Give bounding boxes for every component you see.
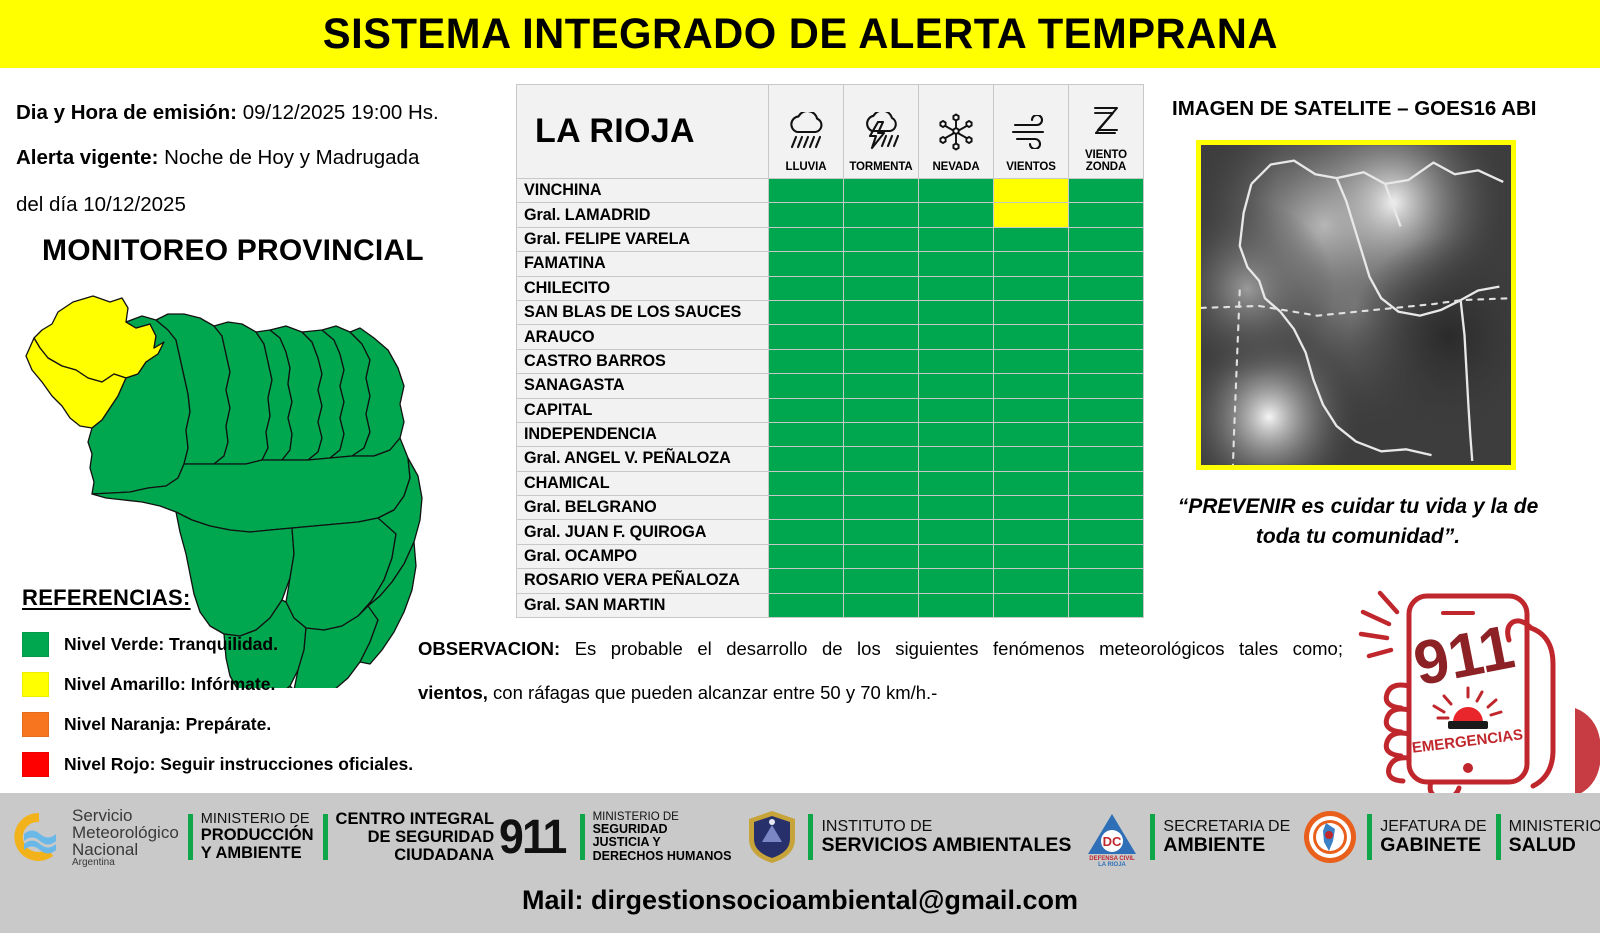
department-name-cell: Gral. BELGRANO: [517, 496, 769, 520]
divider-bar: [323, 814, 328, 860]
alert-cell-tormenta: [844, 593, 919, 617]
table-header: LA RIOJA: [517, 85, 1144, 179]
legend-label-orange: Nivel Naranja: Prepárate.: [64, 714, 271, 735]
column-label-lluvia: LLUVIA: [786, 162, 827, 174]
alert-cell-vientos: [994, 569, 1069, 593]
alert-cell-vientos: [994, 422, 1069, 446]
logo-strip: Servicio Meteorológico Nacional Argentin…: [0, 793, 1600, 881]
alert-cell-viento-zonda: [1069, 422, 1144, 446]
alert-cell-tormenta: [844, 227, 919, 251]
references-title: REFERENCIAS:: [22, 585, 442, 611]
table-row: Gral. OCAMPO: [517, 544, 1144, 568]
legend-swatch-yellow: [22, 672, 49, 697]
table-row: VINCHINA: [517, 179, 1144, 203]
smn-logo-text: Servicio Meteorológico Nacional Argentin…: [72, 807, 179, 868]
column-header-viento-zonda: VIENTOZONDA: [1069, 85, 1144, 179]
legend-label-red: Nivel Rojo: Seguir instrucciones oficial…: [64, 754, 413, 775]
alert-cell-viento-zonda: [1069, 374, 1144, 398]
legend-swatch-green: [22, 632, 49, 657]
department-name-cell: Gral. JUAN F. QUIROGA: [517, 520, 769, 544]
alert-cell-nevada: [919, 398, 994, 422]
department-name-cell: ARAUCO: [517, 325, 769, 349]
logo-ministerio-salud: MINISTERIO DE SALUD: [1487, 802, 1600, 872]
produccion-line-3: Y AMBIENTE: [201, 845, 314, 863]
alert-cell-vientos: [994, 520, 1069, 544]
alert-cell-lluvia: [769, 374, 844, 398]
logo-ministerio-seguridad: MINISTERIO DE SEGURIDAD JUSTICIA Y DEREC…: [571, 802, 732, 872]
table-row: FAMATINA: [517, 252, 1144, 276]
column-header-lluvia: LLUVIA: [769, 85, 844, 179]
table-row: Gral. FELIPE VARELA: [517, 227, 1144, 251]
divider-bar: [1496, 814, 1501, 860]
centro911-line-2: DE SEGURIDAD: [336, 828, 495, 846]
logo-secretaria-ambiente: DC DEFENSA CIVIL LA RIOJA SECRETARIA DE …: [1071, 802, 1290, 872]
legend-item: Nivel Naranja: Prepárate.: [22, 704, 442, 744]
alert-cell-tormenta: [844, 325, 919, 349]
alert-cell-tormenta: [844, 252, 919, 276]
header-banner: SISTEMA INTEGRADO DE ALERTA TEMPRANA: [0, 0, 1600, 68]
centro911-number: 911: [499, 810, 565, 865]
alert-cell-viento-zonda: [1069, 398, 1144, 422]
gabinete-line-1: JEFATURA DE: [1380, 818, 1486, 835]
page-title: SISTEMA INTEGRADO DE ALERTA TEMPRANA: [322, 10, 1277, 59]
zonda-wind-icon: [1087, 92, 1125, 148]
column-label-viento-zonda: VIENTOZONDA: [1085, 150, 1127, 174]
alert-cell-tormenta: [844, 569, 919, 593]
alert-cell-nevada: [919, 300, 994, 324]
smn-line-3: Nacional: [72, 841, 179, 858]
alert-cell-viento-zonda: [1069, 593, 1144, 617]
legend-swatch-red: [22, 752, 49, 777]
alert-cell-vientos: [994, 374, 1069, 398]
alert-cell-vientos: [994, 227, 1069, 251]
alert-cell-vientos: [994, 325, 1069, 349]
department-name-cell: Gral. OCAMPO: [517, 544, 769, 568]
alert-cell-vientos: [994, 252, 1069, 276]
alert-cell-tormenta: [844, 447, 919, 471]
smn-logo-icon: [10, 808, 68, 866]
legend-item: Nivel Rojo: Seguir instrucciones oficial…: [22, 744, 442, 784]
logo-jefatura-gabinete: JEFATURA DE GABINETE: [1290, 802, 1486, 872]
monitoring-title: MONITOREO PROVINCIAL: [42, 234, 424, 268]
department-name-cell: SANAGASTA: [517, 374, 769, 398]
alert-cell-vientos: [994, 398, 1069, 422]
observation-label: OBSERVACION:: [418, 638, 560, 659]
alert-cell-tormenta: [844, 276, 919, 300]
table-row: ARAUCO: [517, 325, 1144, 349]
alert-cell-tormenta: [844, 471, 919, 495]
logo-smn: Servicio Meteorológico Nacional Argentin…: [10, 802, 179, 872]
column-header-tormenta: TORMENTA: [844, 85, 919, 179]
prevention-quote: “PREVENIR es cuidar tu vida y la de toda…: [1168, 492, 1548, 552]
seguridad-line-2: SEGURIDAD: [593, 823, 732, 836]
divider-bar: [188, 814, 193, 860]
alert-cell-lluvia: [769, 447, 844, 471]
department-name-cell: INDEPENDENCIA: [517, 422, 769, 446]
defensa-civil-icon: DC DEFENSA CIVIL LA RIOJA: [1083, 808, 1141, 866]
observation-block: OBSERVACION: Es probable el desarrollo d…: [418, 637, 1343, 704]
alert-cell-viento-zonda: [1069, 325, 1144, 349]
alert-cell-nevada: [919, 447, 994, 471]
police-shield-icon: [745, 808, 799, 866]
department-name-cell: Gral. ANGEL V. PEÑALOZA: [517, 447, 769, 471]
alert-cell-lluvia: [769, 544, 844, 568]
alert-cell-nevada: [919, 471, 994, 495]
emergency-911-graphic: 911 EMERGENCIAS: [1335, 568, 1600, 796]
table-body: VINCHINAGral. LAMADRIDGral. FELIPE VAREL…: [517, 179, 1144, 618]
table-row: ROSARIO VERA PEÑALOZA: [517, 569, 1144, 593]
legend-item: Nivel Amarillo: Infórmate.: [22, 664, 442, 704]
emergency-label: EMERGENCIAS: [1411, 726, 1524, 756]
alert-validity-value: Noche de Hoy y Madrugada: [158, 146, 419, 169]
observation-line-2: vientos, con ráfagas que pueden alcanzar…: [418, 682, 1343, 704]
secretaria-line-1: SECRETARIA DE: [1163, 818, 1290, 835]
alert-cell-viento-zonda: [1069, 544, 1144, 568]
alert-cell-viento-zonda: [1069, 471, 1144, 495]
table-row: CASTRO BARROS: [517, 349, 1144, 373]
department-name-cell: Gral. FELIPE VARELA: [517, 227, 769, 251]
observation-line-1: OBSERVACION: Es probable el desarrollo d…: [418, 637, 1343, 660]
salud-line-2: SALUD: [1509, 835, 1600, 856]
table-row: SANAGASTA: [517, 374, 1144, 398]
alert-cell-tormenta: [844, 520, 919, 544]
legend-swatch-orange: [22, 712, 49, 737]
alert-cell-lluvia: [769, 398, 844, 422]
province-name: LA RIOJA: [535, 112, 695, 150]
alert-cell-vientos: [994, 544, 1069, 568]
alert-cell-lluvia: [769, 569, 844, 593]
table-row: CHAMICAL: [517, 471, 1144, 495]
table-row: INDEPENDENCIA: [517, 422, 1144, 446]
divider-bar: [1150, 814, 1155, 860]
alert-cell-viento-zonda: [1069, 569, 1144, 593]
table-row: Gral. JUAN F. QUIROGA: [517, 520, 1144, 544]
gabinete-line-2: GABINETE: [1380, 835, 1486, 856]
alert-cell-tormenta: [844, 300, 919, 324]
legend-item: Nivel Verde: Tranquilidad.: [22, 624, 442, 664]
alert-cell-viento-zonda: [1069, 276, 1144, 300]
table-row: CAPITAL: [517, 398, 1144, 422]
department-name-cell: CHAMICAL: [517, 471, 769, 495]
alert-cell-vientos: [994, 447, 1069, 471]
alert-cell-vientos: [994, 300, 1069, 324]
alert-cell-nevada: [919, 227, 994, 251]
salud-line-1: MINISTERIO DE: [1509, 818, 1600, 835]
alert-cell-tormenta: [844, 422, 919, 446]
centro911-line-3: CIUDADANA: [336, 846, 495, 864]
alert-cell-nevada: [919, 252, 994, 276]
alert-cell-lluvia: [769, 203, 844, 227]
alert-cell-vientos: [994, 276, 1069, 300]
column-header-vientos: VIENTOS: [994, 85, 1069, 179]
references-legend: REFERENCIAS: Nivel Verde: Tranquilidad. …: [22, 585, 442, 784]
column-label-tormenta: TORMENTA: [849, 162, 912, 174]
alert-cell-tormenta: [844, 203, 919, 227]
alert-cell-lluvia: [769, 471, 844, 495]
table-row: Gral. BELGRANO: [517, 496, 1144, 520]
alert-cell-nevada: [919, 325, 994, 349]
instituto-line-1: INSTITUTO DE: [821, 818, 1071, 835]
alert-cell-nevada: [919, 374, 994, 398]
alert-cell-nevada: [919, 203, 994, 227]
department-name-cell: SAN BLAS DE LOS SAUCES: [517, 300, 769, 324]
province-header-cell: LA RIOJA: [517, 85, 769, 179]
alert-cell-lluvia: [769, 227, 844, 251]
divider-bar: [580, 814, 585, 860]
alert-cell-vientos: [994, 471, 1069, 495]
table-header-row: LA RIOJA: [517, 85, 1144, 179]
column-header-nevada: NEVADA: [919, 85, 994, 179]
alert-cell-nevada: [919, 179, 994, 203]
alert-cell-viento-zonda: [1069, 252, 1144, 276]
centro911-line-1: CENTRO INTEGRAL: [336, 810, 495, 828]
emission-datetime-value: 09/12/2025 19:00 Hs.: [237, 101, 439, 124]
department-name-cell: ROSARIO VERA PEÑALOZA: [517, 569, 769, 593]
table-row: Gral. LAMADRID: [517, 203, 1144, 227]
alert-validity-label: Alerta vigente:: [16, 146, 158, 169]
alert-cell-lluvia: [769, 496, 844, 520]
alert-cell-lluvia: [769, 276, 844, 300]
alert-cell-viento-zonda: [1069, 227, 1144, 251]
rain-icon: [784, 104, 828, 160]
logo-ministerio-produccion: MINISTERIO DE PRODUCCIÓN Y AMBIENTE: [179, 802, 314, 872]
alert-cell-tormenta: [844, 544, 919, 568]
column-label-nevada: NEVADA: [932, 162, 979, 174]
alert-cell-nevada: [919, 349, 994, 373]
smn-line-2: Meteorológico: [72, 824, 179, 841]
produccion-line-2: PRODUCCIÓN: [201, 827, 314, 845]
seguridad-line-4: DERECHOS HUMANOS: [593, 850, 732, 863]
alert-cell-viento-zonda: [1069, 349, 1144, 373]
observation-bold-term: vientos,: [418, 682, 488, 703]
divider-bar: [808, 814, 813, 860]
svg-text:DC: DC: [1103, 834, 1122, 849]
alert-matrix-table: LA RIOJA: [516, 84, 1144, 618]
smn-line-4: Argentina: [72, 858, 179, 868]
emergency-number: 911: [1408, 612, 1519, 699]
alert-cell-viento-zonda: [1069, 496, 1144, 520]
smn-line-1: Servicio: [72, 807, 179, 824]
observation-text: Es probable el desarrollo de los siguien…: [560, 638, 1343, 659]
alert-cell-viento-zonda: [1069, 520, 1144, 544]
satellite-image: [1196, 140, 1516, 470]
thunderstorm-icon: [858, 104, 904, 160]
department-name-cell: Gral. SAN MARTIN: [517, 593, 769, 617]
alert-cell-lluvia: [769, 179, 844, 203]
alert-cell-tormenta: [844, 349, 919, 373]
alert-cell-tormenta: [844, 398, 919, 422]
instituto-line-2: SERVICIOS AMBIENTALES: [821, 835, 1071, 856]
alert-validity-continuation: del día 10/12/2025: [16, 193, 186, 217]
alert-cell-nevada: [919, 544, 994, 568]
department-name-cell: FAMATINA: [517, 252, 769, 276]
logo-centro-911: CENTRO INTEGRAL DE SEGURIDAD CIUDADANA 9…: [314, 802, 571, 872]
department-name-cell: Gral. LAMADRID: [517, 203, 769, 227]
alert-cell-lluvia: [769, 252, 844, 276]
defensa-civil-sub2: LA RIOJA: [1099, 862, 1127, 866]
table-row: Gral. SAN MARTIN: [517, 593, 1144, 617]
alert-cell-tormenta: [844, 179, 919, 203]
alert-cell-viento-zonda: [1069, 179, 1144, 203]
alert-cell-lluvia: [769, 325, 844, 349]
alert-cell-lluvia: [769, 520, 844, 544]
table-row: CHILECITO: [517, 276, 1144, 300]
wind-icon: [1009, 104, 1053, 160]
footer: Servicio Meteorológico Nacional Argentin…: [0, 793, 1600, 933]
department-name-cell: VINCHINA: [517, 179, 769, 203]
seguridad-line-3: JUSTICIA Y: [593, 836, 732, 849]
alert-cell-lluvia: [769, 349, 844, 373]
alert-cell-lluvia: [769, 300, 844, 324]
department-name-cell: CAPITAL: [517, 398, 769, 422]
gabinete-seal-icon: [1302, 809, 1358, 865]
alert-bulletin-page: SISTEMA INTEGRADO DE ALERTA TEMPRANA Dia…: [0, 0, 1600, 933]
divider-bar: [1367, 814, 1372, 860]
emission-datetime-label: Dia y Hora de emisión:: [16, 101, 237, 124]
department-name-cell: CASTRO BARROS: [517, 349, 769, 373]
table-row: Gral. ANGEL V. PEÑALOZA: [517, 447, 1144, 471]
observation-text-2: con ráfagas que pueden alcanzar entre 50…: [488, 682, 937, 703]
alert-cell-nevada: [919, 276, 994, 300]
alert-cell-vientos: [994, 496, 1069, 520]
alert-cell-nevada: [919, 422, 994, 446]
legend-label-green: Nivel Verde: Tranquilidad.: [64, 634, 278, 655]
produccion-line-1: MINISTERIO DE: [201, 812, 314, 828]
alert-cell-nevada: [919, 593, 994, 617]
snowflake-icon: [935, 104, 977, 160]
alert-cell-vientos: [994, 179, 1069, 203]
table-row: SAN BLAS DE LOS SAUCES: [517, 300, 1144, 324]
contact-mail: Mail: dirgestionsocioambiental@gmail.com: [0, 885, 1600, 916]
emission-datetime-line: Dia y Hora de emisión: 09/12/2025 19:00 …: [16, 101, 439, 125]
alert-cell-tormenta: [844, 496, 919, 520]
alert-cell-tormenta: [844, 374, 919, 398]
alert-cell-viento-zonda: [1069, 203, 1144, 227]
satellite-title: IMAGEN DE SATELITE – GOES16 ABI: [1172, 97, 1537, 121]
alert-cell-viento-zonda: [1069, 447, 1144, 471]
alert-cell-vientos: [994, 203, 1069, 227]
alert-cell-nevada: [919, 569, 994, 593]
alert-cell-nevada: [919, 520, 994, 544]
alert-cell-lluvia: [769, 593, 844, 617]
alert-cell-nevada: [919, 496, 994, 520]
column-label-vientos: VIENTOS: [1006, 162, 1056, 174]
alert-cell-viento-zonda: [1069, 300, 1144, 324]
department-name-cell: CHILECITO: [517, 276, 769, 300]
logo-instituto-servicios-ambientales: INSTITUTO DE SERVICIOS AMBIENTALES: [731, 802, 1071, 872]
alert-validity-line: Alerta vigente: Noche de Hoy y Madrugada: [16, 146, 419, 170]
secretaria-line-2: AMBIENTE: [1163, 835, 1290, 856]
alert-cell-vientos: [994, 593, 1069, 617]
legend-label-yellow: Nivel Amarillo: Infórmate.: [64, 674, 275, 695]
alert-cell-lluvia: [769, 422, 844, 446]
alert-cell-vientos: [994, 349, 1069, 373]
